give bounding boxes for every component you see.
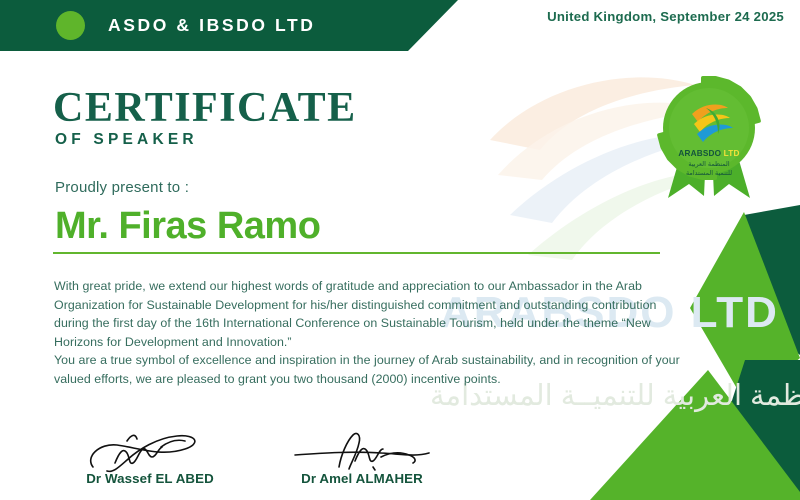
citation-line: You are a true symbol of excellence and … <box>54 351 700 370</box>
citation-line: Horizons for Development and Innovation.… <box>54 333 700 352</box>
certificate-content: CERTIFICATE OF SPEAKER Proudly present t… <box>0 0 800 500</box>
signatory-name: Dr Amel ALMAHER <box>262 471 462 486</box>
page-title: CERTIFICATE <box>53 85 357 131</box>
signatory-name: Dr Wassef EL ABED <box>50 471 250 486</box>
citation-line: Organization for Sustainable Development… <box>54 296 700 315</box>
signature-block-right: Dr Amel ALMAHER <box>262 427 462 486</box>
certificate-subtitle: OF SPEAKER <box>55 131 198 149</box>
recipient-name: Mr. Firas Ramo <box>55 205 320 247</box>
citation-line: With great pride, we extend our highest … <box>54 277 700 296</box>
signature-block-left: Dr Wassef EL ABED <box>50 427 250 486</box>
signature-mark-icon <box>277 427 447 475</box>
citation-line: during the first day of the 16th Interna… <box>54 314 700 333</box>
citation-line: valued efforts, we are pleased to grant … <box>54 370 700 389</box>
certificate-page: ARABSDO LTD المنظمة العربية للتنميــة ال… <box>0 0 800 500</box>
divider-rule <box>53 252 660 254</box>
present-to-label: Proudly present to : <box>55 179 189 196</box>
citation-body: With great pride, we extend our highest … <box>54 277 700 389</box>
signature-mark-icon <box>65 427 235 475</box>
